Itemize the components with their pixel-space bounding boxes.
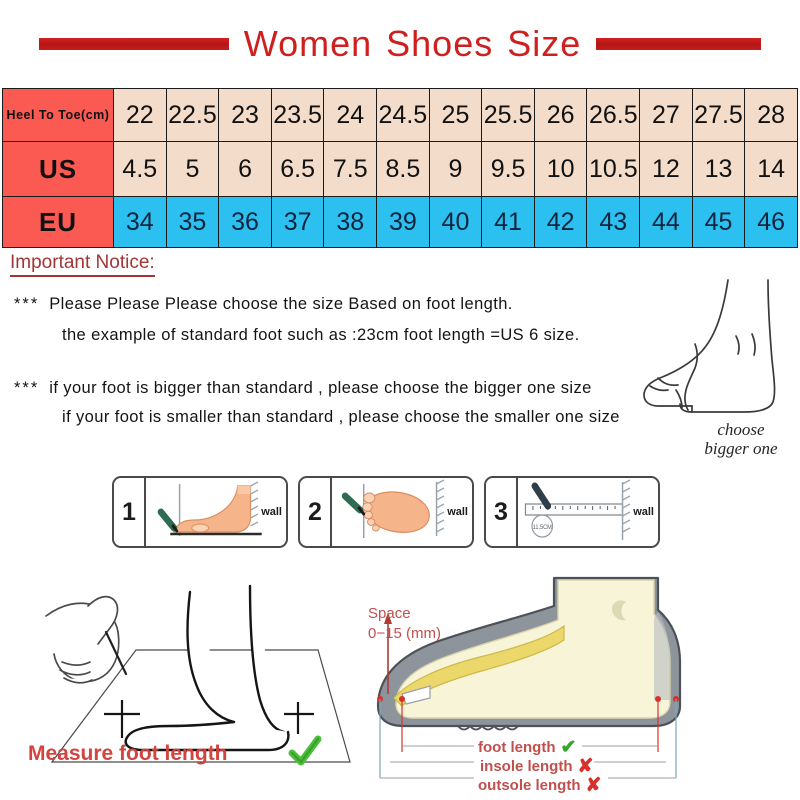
title-word-2: Shoes [386, 23, 493, 64]
cell-eu: 43 [587, 197, 640, 248]
measure-foot-length-label: Measure foot length [28, 742, 228, 766]
legend-foot-length-label: foot length [478, 739, 555, 757]
step-number-3: 3 [486, 478, 518, 546]
cell-us: 12 [640, 142, 693, 197]
cell-eu: 41 [482, 197, 535, 248]
row-header-heel-to-toe: Heel To Toe(cm) [3, 89, 114, 142]
choose-caption-line-1: choose [686, 420, 796, 439]
cell-us: 7.5 [324, 142, 377, 197]
step-2-illustration: wall [332, 478, 472, 546]
cell-cm: 23 [219, 89, 272, 142]
cell-cm: 23.5 [271, 89, 324, 142]
legend-insole-length-label: insole length [480, 758, 573, 776]
shoe-measurement-legend: foot length ✔ insole length ✘ outsole le… [478, 738, 601, 795]
step-panel-1: 1 wall [112, 476, 288, 548]
title-word-1: Women [244, 23, 372, 64]
cell-cm: 25 [429, 89, 482, 142]
notice-stars: *** [14, 379, 39, 397]
measurement-steps: 1 wall 2 [112, 476, 660, 548]
legend-insole-length: insole length ✘ [478, 757, 601, 776]
title-bar-right [596, 38, 761, 50]
space-label-line-2: 0−15 (mm) [368, 624, 441, 644]
cell-eu: 46 [745, 197, 798, 248]
cell-us: 6.5 [271, 142, 324, 197]
red-cross-icon: ✘ [578, 757, 594, 776]
green-check-icon [288, 735, 322, 769]
cell-us: 9 [429, 142, 482, 197]
cell-eu: 45 [692, 197, 745, 248]
notice-line-3-text: if your foot is bigger than standard , p… [49, 379, 591, 397]
cell-cm: 22 [114, 89, 167, 142]
cell-eu: 35 [166, 197, 219, 248]
step-1-wall-label: wall [261, 506, 282, 518]
cell-eu: 36 [219, 197, 272, 248]
step-panel-2: 2 wall [298, 476, 474, 548]
cell-cm: 27 [640, 89, 693, 142]
size-conversion-table: Heel To Toe(cm) 22 22.5 23 23.5 24 24.5 … [2, 88, 798, 248]
cell-us: 14 [745, 142, 798, 197]
cell-eu: 38 [324, 197, 377, 248]
step-1-illustration: wall [146, 478, 286, 546]
cell-us: 9.5 [482, 142, 535, 197]
cell-cm: 27.5 [692, 89, 745, 142]
space-label-line-1: Space [368, 604, 441, 624]
cell-eu: 40 [429, 197, 482, 248]
notice-line-4: if your foot is smaller than standard , … [62, 408, 620, 427]
legend-foot-length: foot length ✔ [478, 738, 601, 757]
notice-stars: *** [14, 295, 39, 313]
cell-eu: 42 [534, 197, 587, 248]
cell-us: 5 [166, 142, 219, 197]
legend-outsole-length-label: outsole length [478, 777, 581, 795]
cell-us: 10.5 [587, 142, 640, 197]
cell-eu: 37 [271, 197, 324, 248]
cell-us: 10 [534, 142, 587, 197]
step-number-2: 2 [300, 478, 332, 546]
cell-cm: 22.5 [166, 89, 219, 142]
notice-line-1-text: Please Please Please choose the size Bas… [49, 295, 513, 313]
step-number-1: 1 [114, 478, 146, 546]
cell-us: 13 [692, 142, 745, 197]
title-bar-left [39, 38, 229, 50]
row-header-eu: EU [3, 197, 114, 248]
cell-us: 6 [219, 142, 272, 197]
notice-line-1: ***Please Please Please choose the size … [14, 295, 513, 314]
green-check-icon: ✔ [560, 738, 576, 757]
cell-eu: 39 [377, 197, 430, 248]
space-gap-label: Space 0−15 (mm) [368, 604, 441, 645]
cell-cm: 26 [534, 89, 587, 142]
cell-eu: 34 [114, 197, 167, 248]
red-cross-icon: ✘ [586, 776, 602, 795]
cell-cm: 25.5 [482, 89, 535, 142]
step-3-illustration: 11.5CM wall [518, 478, 658, 546]
row-header-us: US [3, 142, 114, 197]
notice-line-3: ***if your foot is bigger than standard … [14, 379, 592, 398]
step-panel-3: 3 11.5CM [484, 476, 660, 548]
choose-bigger-one-caption: choose bigger one [686, 420, 796, 458]
cell-us: 4.5 [114, 142, 167, 197]
important-notice-heading: Important Notice: [10, 252, 155, 277]
cell-cm: 26.5 [587, 89, 640, 142]
cell-cm: 28 [745, 89, 798, 142]
table-row-heel-to-toe: Heel To Toe(cm) 22 22.5 23 23.5 24 24.5 … [3, 89, 798, 142]
table-row-us: US 4.5 5 6 6.5 7.5 8.5 9 9.5 10 10.5 12 … [3, 142, 798, 197]
cell-cm: 24.5 [377, 89, 430, 142]
page-title: WomenShoesSize [0, 18, 800, 70]
choose-caption-line-2: bigger one [686, 439, 796, 458]
step-3-wall-label: wall [633, 506, 654, 518]
cell-cm: 24 [324, 89, 377, 142]
cell-us: 8.5 [377, 142, 430, 197]
page-title-text: WomenShoesSize [237, 23, 589, 65]
table-row-eu: EU 34 35 36 37 38 39 40 41 42 43 44 45 4… [3, 197, 798, 248]
legend-outsole-length: outsole length ✘ [478, 776, 601, 795]
title-word-3: Size [507, 23, 581, 64]
step-3-reading: 11.5CM [533, 525, 552, 531]
step-2-wall-label: wall [447, 506, 468, 518]
notice-line-2: the example of standard foot such as :23… [62, 326, 580, 345]
cell-eu: 44 [640, 197, 693, 248]
